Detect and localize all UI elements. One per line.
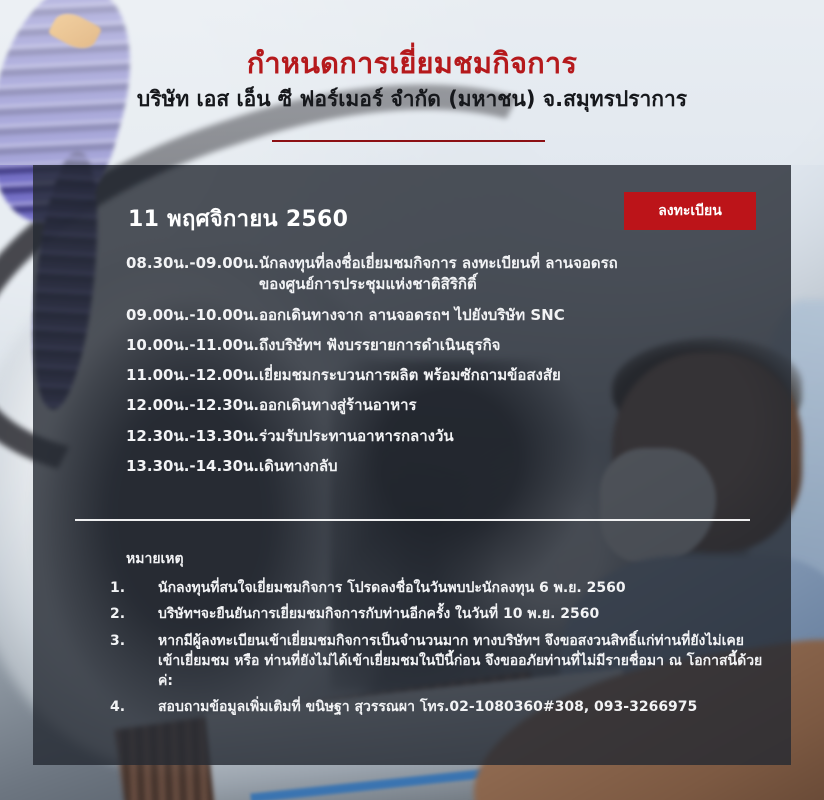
schedule-description: ออกเดินทางจาก ลานจอดรถฯ ไปยังบริษัท SNC xyxy=(259,305,565,326)
schedule-description-line1: นักลงทุนที่ลงชื่อเยี่ยมชมกิจการ ลงทะเบีย… xyxy=(259,254,618,272)
schedule-time: 08.30น.-09.00น. xyxy=(126,253,259,274)
schedule-row: 09.00น.-10.00น. ออกเดินทางจาก ลานจอดรถฯ … xyxy=(126,305,746,326)
event-date-heading: 11 พฤศจิกายน 2560 xyxy=(128,201,348,236)
schedule-description: เดินทางกลับ xyxy=(259,456,338,477)
schedule-description-line2: ของศูนย์การประชุมแห่งชาติสิริกิติ์ xyxy=(259,274,618,295)
page-title: กำหนดการเยี่ยมชมกิจการ xyxy=(0,46,824,80)
note-number: 1. xyxy=(110,578,158,598)
note-number: 3. xyxy=(110,631,158,651)
note-item: 3. หากมีผู้ลงทะเบียนเข้าเยี่ยมชมกิจการเป… xyxy=(110,631,770,692)
schedule-time: 09.00น.-10.00น. xyxy=(126,305,259,326)
event-poster: กำหนดการเยี่ยมชมกิจการ บริษัท เอส เอ็น ซ… xyxy=(0,0,824,800)
schedule-time: 11.00น.-12.00น. xyxy=(126,365,259,386)
schedule-list: 08.30น.-09.00น. นักลงทุนที่ลงชื่อเยี่ยมช… xyxy=(126,253,746,486)
schedule-row: 12.00น.-12.30น. ออกเดินทางสู่ร้านอาหาร xyxy=(126,395,746,416)
schedule-row: 11.00น.-12.00น. เยี่ยมชมกระบวนการผลิต พร… xyxy=(126,365,746,386)
note-item: 4. สอบถามข้อมูลเพิ่มเติมที่ ขนิษฐา สุวรร… xyxy=(110,697,770,717)
notes-label: หมายเหตุ xyxy=(126,548,770,570)
notes-divider xyxy=(75,519,750,521)
schedule-row: 08.30น.-09.00น. นักลงทุนที่ลงชื่อเยี่ยมช… xyxy=(126,253,746,296)
note-item: 1. นักลงทุนที่สนใจเยี่ยมชมกิจการ โปรดลงช… xyxy=(110,578,770,598)
schedule-description: เยี่ยมชมกระบวนการผลิต พร้อมซักถามข้อสงสั… xyxy=(259,365,561,386)
note-number: 2. xyxy=(110,604,158,624)
note-text-line2: เข้าเยี่ยมชม หรือ ท่านที่ยังไม่ได้เข้าเย… xyxy=(158,651,770,692)
company-subtitle: บริษัท เอส เอ็น ซี ฟอร์เมอร์ จำกัด (มหาช… xyxy=(0,87,824,112)
schedule-row: 13.30น.-14.30น. เดินทางกลับ xyxy=(126,456,746,477)
schedule-description: ออกเดินทางสู่ร้านอาหาร xyxy=(259,395,417,416)
note-text: หากมีผู้ลงทะเบียนเข้าเยี่ยมชมกิจการเป็นจ… xyxy=(158,631,770,692)
notes-section: หมายเหตุ 1. นักลงทุนที่สนใจเยี่ยมชมกิจกา… xyxy=(110,548,770,724)
schedule-description: ถึงบริษัทฯ ฟังบรรยายการดำเนินธุรกิจ xyxy=(259,335,500,356)
schedule-time: 13.30น.-14.30น. xyxy=(126,456,259,477)
header-divider xyxy=(272,140,545,142)
note-text-line1: หากมีผู้ลงทะเบียนเข้าเยี่ยมชมกิจการเป็นจ… xyxy=(158,633,744,649)
schedule-description: ร่วมรับประทานอาหารกลางวัน xyxy=(259,426,454,447)
note-text: สอบถามข้อมูลเพิ่มเติมที่ ขนิษฐา สุวรรณผา… xyxy=(158,697,697,717)
note-text: นักลงทุนที่สนใจเยี่ยมชมกิจการ โปรดลงชื่อ… xyxy=(158,578,626,598)
schedule-row: 10.00น.-11.00น. ถึงบริษัทฯ ฟังบรรยายการด… xyxy=(126,335,746,356)
note-item: 2. บริษัทฯจะยืนยันการเยี่ยมชมกิจการกับท่… xyxy=(110,604,770,624)
schedule-time: 10.00น.-11.00น. xyxy=(126,335,259,356)
note-text: บริษัทฯจะยืนยันการเยี่ยมชมกิจการกับท่านอ… xyxy=(158,604,599,624)
note-number: 4. xyxy=(110,697,158,717)
schedule-description: นักลงทุนที่ลงชื่อเยี่ยมชมกิจการ ลงทะเบีย… xyxy=(259,253,618,296)
schedule-time: 12.00น.-12.30น. xyxy=(126,395,259,416)
poster-header: กำหนดการเยี่ยมชมกิจการ บริษัท เอส เอ็น ซ… xyxy=(0,46,824,112)
register-button[interactable]: ลงทะเบียน xyxy=(624,192,756,230)
schedule-time: 12.30น.-13.30น. xyxy=(126,426,259,447)
schedule-row: 12.30น.-13.30น. ร่วมรับประทานอาหารกลางวั… xyxy=(126,426,746,447)
